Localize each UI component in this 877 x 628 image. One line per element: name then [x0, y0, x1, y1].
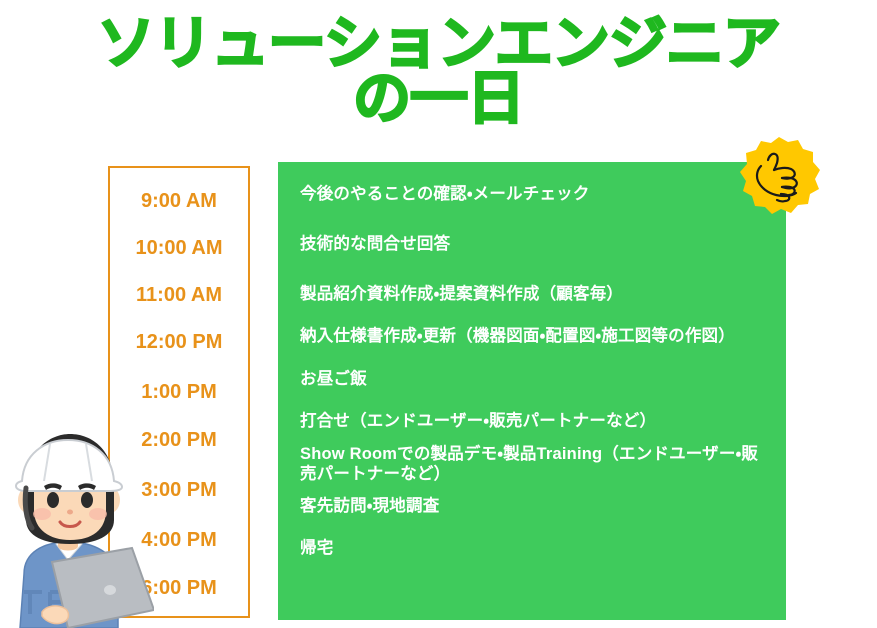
- task-item: 今後のやることの確認・メールチェック: [300, 184, 766, 204]
- page-title-line-1: ソリューションエンジニア: [0, 16, 877, 71]
- time-slot: 1:00 PM: [108, 382, 250, 402]
- time-slot: 10:00 AM: [108, 238, 250, 258]
- task-item: 帰宅: [300, 538, 766, 558]
- worker-illustration: [6, 424, 154, 628]
- time-slot: 12:00 PM: [108, 332, 250, 352]
- page-title-line-2: の一日: [0, 71, 877, 126]
- task-item: 製品紹介資料作成・提案資料作成（顧客毎）: [300, 284, 766, 304]
- task-item: 技術的な問合せ回答: [300, 234, 766, 254]
- time-slot: 9:00 AM: [108, 191, 250, 211]
- task-item: お昼ご飯: [300, 369, 766, 389]
- task-panel: 今後のやることの確認・メールチェック 技術的な問合せ回答 製品紹介資料作成・提案…: [278, 162, 786, 620]
- task-item: 客先訪問・現地調査: [300, 496, 766, 516]
- time-slot: 11:00 AM: [108, 285, 250, 305]
- task-item: 納入仕様書作成・更新（機器図面・配置図・施工図等の作図）: [300, 326, 766, 346]
- task-item: Show Roomでの製品デモ・製品Training（エンドユーザー・販売パート…: [300, 444, 766, 484]
- page-title: ソリューションエンジニア の一日: [0, 16, 877, 126]
- task-item: 打合せ（エンドユーザー・販売パートナーなど）: [300, 411, 766, 431]
- thumbs-up-badge: [736, 135, 822, 219]
